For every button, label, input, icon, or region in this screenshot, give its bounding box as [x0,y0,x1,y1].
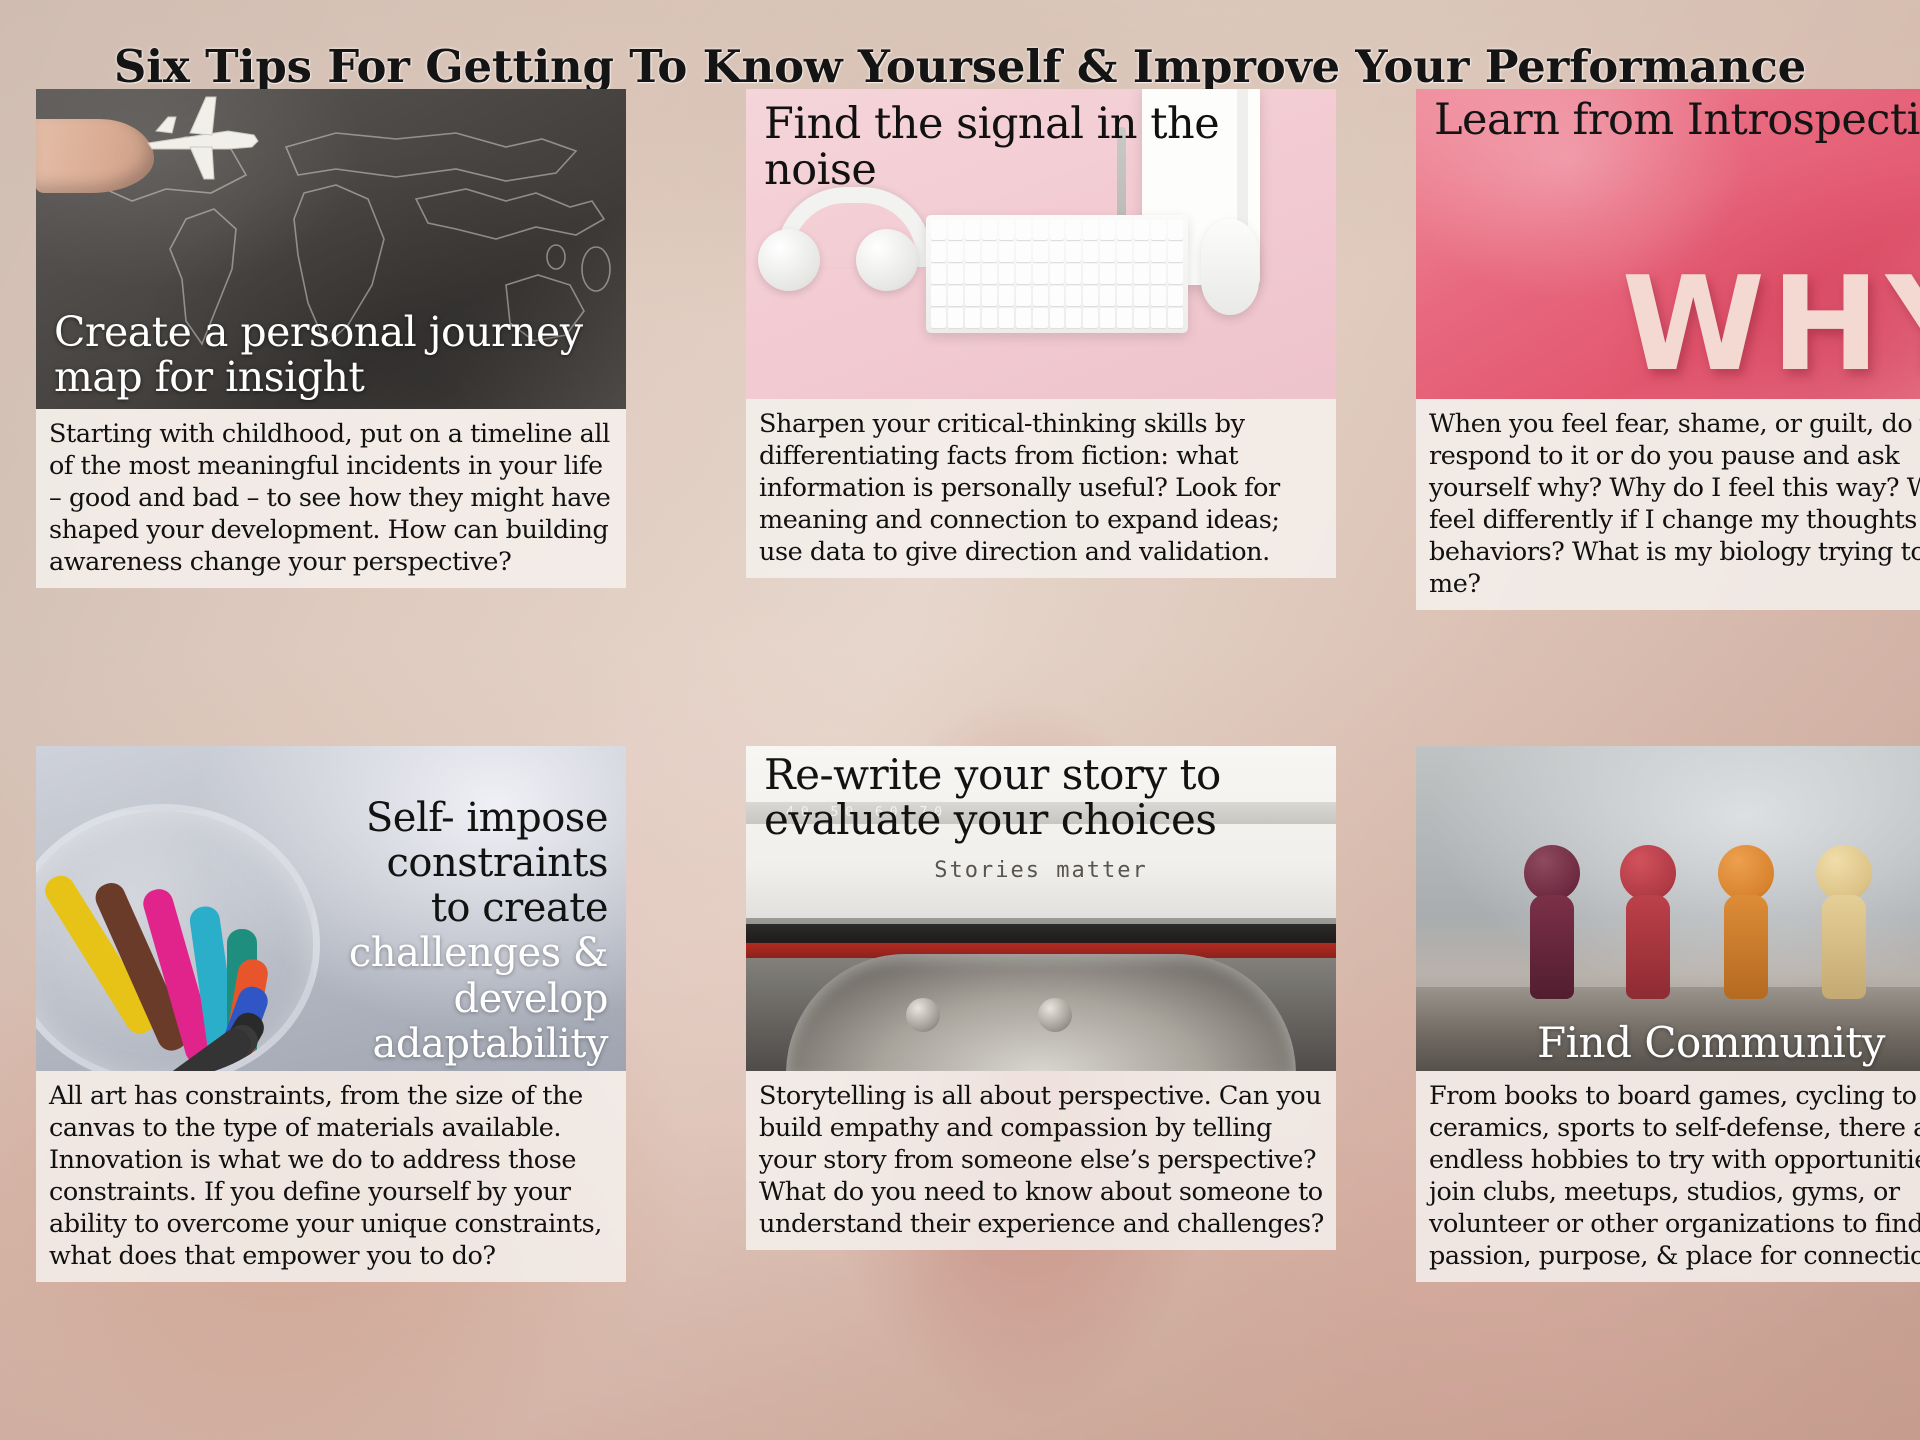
card-title-line: constraints [54,841,608,886]
keyboard-photo-element [926,215,1188,333]
card-body-text: When you feel fear, shame, or guilt, do … [1416,399,1920,610]
chalkboard-world-map-image: Create a personal journey map for insigh… [36,89,626,409]
why-watercolour-image: WHY Learn from Introspection [1416,89,1920,399]
card-self-impose-constraints[interactable]: Self- impose constraints to create chall… [36,746,626,1419]
card-body-text: Sharpen your critical-thinking skills by… [746,399,1336,578]
card-journey-map[interactable]: Create a personal journey map for insigh… [36,89,626,734]
typewriter-carriage [786,954,1296,1071]
card-title: Find Community [1434,1020,1920,1065]
why-letters: WHY [1622,259,1920,389]
card-body-text: Storytelling is all about perspective. C… [746,1071,1336,1250]
typed-text: Stories matter [746,858,1336,883]
pawn-figure [1718,845,1774,999]
card-title: Find the signal in the noise [764,101,1318,194]
card-body-text: From books to board games, cycling to ce… [1416,1071,1920,1282]
mouse-photo-element [1201,219,1259,315]
poster-canvas: Six Tips For Getting To Know Yourself & … [0,0,1920,1440]
card-title-line: to create [54,886,608,931]
wooden-pawns-image: Find Community [1416,746,1920,1071]
card-title-line: develop [54,977,608,1022]
card-title-line: Self- impose [54,796,608,841]
pawn-figure [1816,845,1872,999]
markers-jar-image: Self- impose constraints to create chall… [36,746,626,1071]
typewriter-ribbon [746,924,1336,958]
card-title-line: adaptability [54,1022,608,1067]
pawn-figure [1620,845,1676,999]
typewriter-image: 40 50 60 70 Stories matter Re-write your… [746,746,1336,1071]
card-body-text: All art has constraints, from the size o… [36,1071,626,1282]
toy-plane-icon [132,91,272,187]
card-title-line: challenges & [54,931,608,976]
card-find-signal[interactable]: Find the signal in the noise Sharpen you… [746,89,1336,734]
card-title: Re-write your story to evaluate your cho… [764,752,1318,843]
pawn-figure [1524,845,1580,999]
card-rewrite-story[interactable]: 40 50 60 70 Stories matter Re-write your… [746,746,1336,1419]
card-introspection[interactable]: WHY Learn from Introspection When you fe… [1416,89,1920,734]
card-title: Self- impose constraints to create chall… [54,796,608,1067]
page-title: Six Tips For Getting To Know Yourself & … [0,40,1920,93]
card-title: Learn from Introspection [1434,97,1920,143]
pink-desk-flatlay-image: Find the signal in the noise [746,89,1336,399]
card-body-text: Starting with childhood, put on a timeli… [36,409,626,588]
tips-grid: Create a personal journey map for insigh… [36,89,1886,1419]
headphones-photo-element [758,199,918,299]
card-title: Create a personal journey map for insigh… [54,310,608,399]
card-find-community[interactable]: Find Community From books to board games… [1416,746,1920,1419]
